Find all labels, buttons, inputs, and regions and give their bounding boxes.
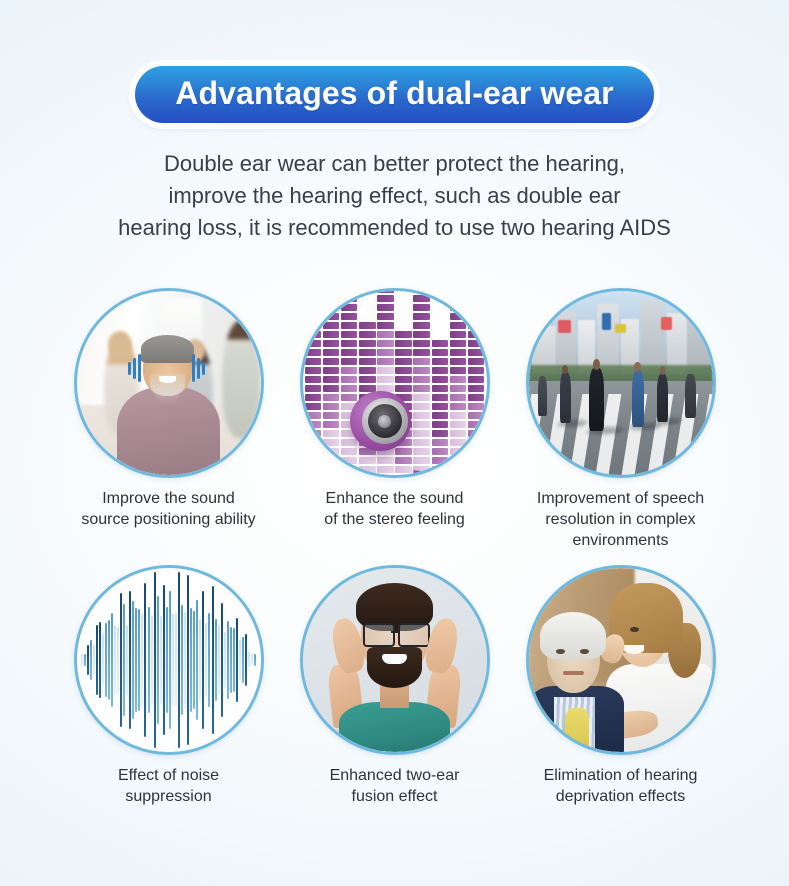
caption-line-2: deprivation effects — [513, 786, 728, 807]
benefit-card-two-ear-fusion[interactable]: Enhanced two-ear fusion effect — [282, 565, 508, 807]
caption-line-1: Enhance the sound — [287, 488, 502, 509]
benefit-caption: Improve the sound source positioning abi… — [61, 488, 276, 530]
benefit-caption: Elimination of hearing deprivation effec… — [513, 765, 728, 807]
caption-line-2: suppression — [61, 786, 276, 807]
caption-line-1: Improve the sound — [61, 488, 276, 509]
title-banner: Advantages of dual-ear wear — [135, 66, 653, 123]
infographic-page: Advantages of dual-ear wear Double ear w… — [0, 0, 789, 886]
caption-line-1: Elimination of hearing — [513, 765, 728, 786]
benefit-card-hearing-deprivation[interactable]: Elimination of hearing deprivation effec… — [508, 565, 734, 807]
caption-line-2: of the stereo feeling — [287, 509, 502, 530]
benefit-caption: Improvement of speech resolution in comp… — [513, 488, 728, 551]
benefit-card-noise-suppression[interactable]: Effect of noise suppression — [56, 565, 282, 807]
benefit-card-grid: Improve the sound source positioning abi… — [0, 288, 789, 807]
title-banner-wrapper: Advantages of dual-ear wear — [0, 66, 789, 123]
circle-frame — [300, 565, 490, 755]
caption-line-1: Enhanced two-ear — [287, 765, 502, 786]
sound-wave-icon — [128, 354, 143, 383]
man-cupping-both-ears-photo — [303, 568, 487, 752]
circle-frame — [526, 565, 716, 755]
speaker-icon — [350, 387, 424, 461]
caption-line-3: environments — [513, 530, 728, 551]
caption-line-1: Effect of noise — [61, 765, 276, 786]
circle-frame — [526, 288, 716, 478]
city-crosswalk-crowd-photo — [529, 291, 713, 475]
benefit-card-speech-resolution[interactable]: Improvement of speech resolution in comp… — [508, 288, 734, 551]
benefit-caption: Enhance the sound of the stereo feeling — [287, 488, 502, 530]
purple-equalizer-speaker-photo — [303, 291, 487, 475]
subtitle-block: Double ear wear can better protect the h… — [0, 148, 789, 244]
page-title: Advantages of dual-ear wear — [175, 77, 613, 109]
circle-frame — [300, 288, 490, 478]
subtitle-line-3: hearing loss, it is recommended to use t… — [24, 212, 765, 244]
benefit-card-sound-source-positioning[interactable]: Improve the sound source positioning abi… — [56, 288, 282, 530]
caregiver-speaking-to-elderly-woman-photo — [529, 568, 713, 752]
blue-audio-waveform-graphic — [77, 568, 261, 752]
man-with-sound-waves-photo — [77, 291, 261, 475]
benefit-caption: Enhanced two-ear fusion effect — [287, 765, 502, 807]
benefit-caption: Effect of noise suppression — [61, 765, 276, 807]
benefit-row-1: Improve the sound source positioning abi… — [0, 288, 789, 551]
circle-frame — [74, 288, 264, 478]
subtitle-line-1: Double ear wear can better protect the h… — [24, 148, 765, 180]
benefit-card-stereo-feeling[interactable]: Enhance the sound of the stereo feeling — [282, 288, 508, 530]
caption-line-2: resolution in complex — [513, 509, 728, 530]
caption-line-2: fusion effect — [287, 786, 502, 807]
sound-wave-icon — [192, 354, 207, 383]
caption-line-2: source positioning ability — [61, 509, 276, 530]
subtitle-line-2: improve the hearing effect, such as doub… — [24, 180, 765, 212]
benefit-row-2: Effect of noise suppression — [0, 565, 789, 807]
caption-line-1: Improvement of speech — [513, 488, 728, 509]
circle-frame — [74, 565, 264, 755]
